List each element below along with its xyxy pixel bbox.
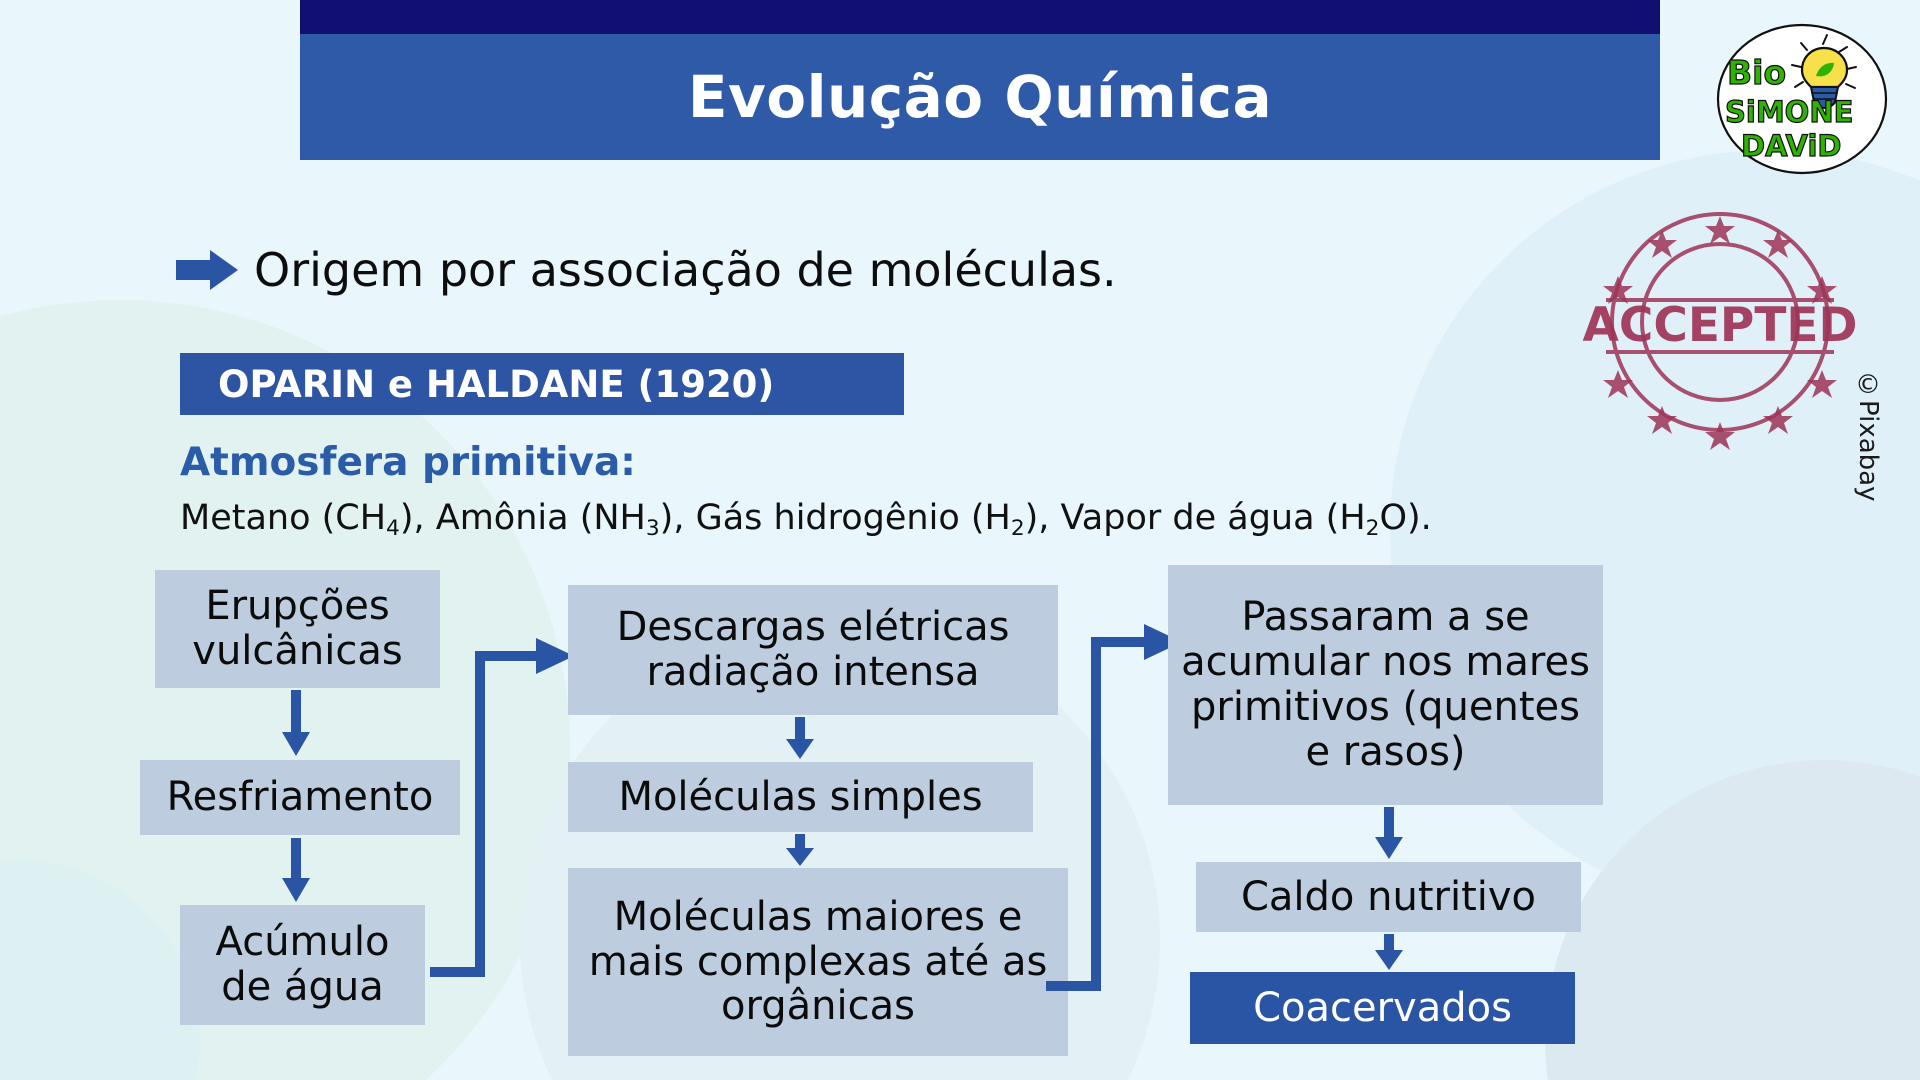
flow-box-moleculas-maiores: Moléculas maiores e mais complexas até a… bbox=[568, 868, 1068, 1056]
logo-line-3: DAViD bbox=[1741, 129, 1842, 163]
down-arrow-moleculas-simples-to-maiores bbox=[785, 834, 815, 866]
down-arrow-resfriamento-to-acumulo bbox=[281, 838, 311, 902]
header-navy-strip bbox=[300, 0, 1660, 34]
oparin-haldane-banner: OPARIN e HALDANE (1920) bbox=[180, 353, 904, 415]
down-arrow-passaram-to-caldo bbox=[1374, 807, 1404, 859]
flow-box-erupcoes-vulcanicas: Erupções vulcânicas bbox=[155, 570, 440, 688]
oparin-haldane-label: OPARIN e HALDANE (1920) bbox=[218, 363, 774, 406]
down-arrow-caldo-to-coacervados bbox=[1374, 934, 1404, 970]
background-circle-right-lower bbox=[1545, 760, 1920, 1080]
logo-line-1: Bio bbox=[1727, 53, 1786, 92]
flow-box-acumulo-de-agua: Acúmulo de água bbox=[180, 905, 425, 1025]
down-arrow-erupcoes-to-resfriamento bbox=[281, 690, 311, 756]
header-title-bar: Evolução Química bbox=[300, 34, 1660, 160]
flow-box-moleculas-simples: Moléculas simples bbox=[568, 762, 1033, 832]
flow-box-passaram-acumular-mares: Passaram a se acumular nos mares primiti… bbox=[1168, 565, 1603, 805]
right-arrow-icon bbox=[176, 248, 238, 292]
pixabay-credit: ©Pixabay bbox=[1853, 370, 1883, 501]
slide-canvas: Evolução Química Bio bbox=[0, 0, 1920, 1080]
atmosfera-primitiva-heading: Atmosfera primitiva: bbox=[180, 440, 636, 485]
flow-box-caldo-nutritivo: Caldo nutritivo bbox=[1196, 862, 1581, 932]
page-title: Evolução Química bbox=[688, 63, 1272, 131]
flow-box-coacervados: Coacervados bbox=[1190, 972, 1575, 1044]
bullet-text: Origem por associação de moléculas. bbox=[254, 243, 1117, 297]
connector-acumulo-to-descargas bbox=[424, 620, 584, 980]
atmosfera-primitiva-formula: Metano (CH4), Amônia (NH3), Gás hidrogên… bbox=[180, 498, 1432, 541]
logo-line-2: SiMONE bbox=[1725, 95, 1853, 129]
accepted-stamp-label: ACCEPTED bbox=[1582, 298, 1857, 353]
accepted-stamp: ACCEPTED bbox=[1580, 200, 1860, 450]
flow-box-resfriamento: Resfriamento bbox=[140, 760, 460, 835]
background-circle-left-small bbox=[0, 860, 200, 1080]
flow-box-descargas-eletricas: Descargas elétricas radiação intensa bbox=[568, 585, 1058, 715]
down-arrow-descargas-to-moleculas-simples bbox=[785, 717, 815, 759]
bullet-row: Origem por associação de moléculas. bbox=[176, 243, 1117, 297]
bio-simone-david-logo: Bio SiMONE DAViD bbox=[1715, 22, 1890, 177]
